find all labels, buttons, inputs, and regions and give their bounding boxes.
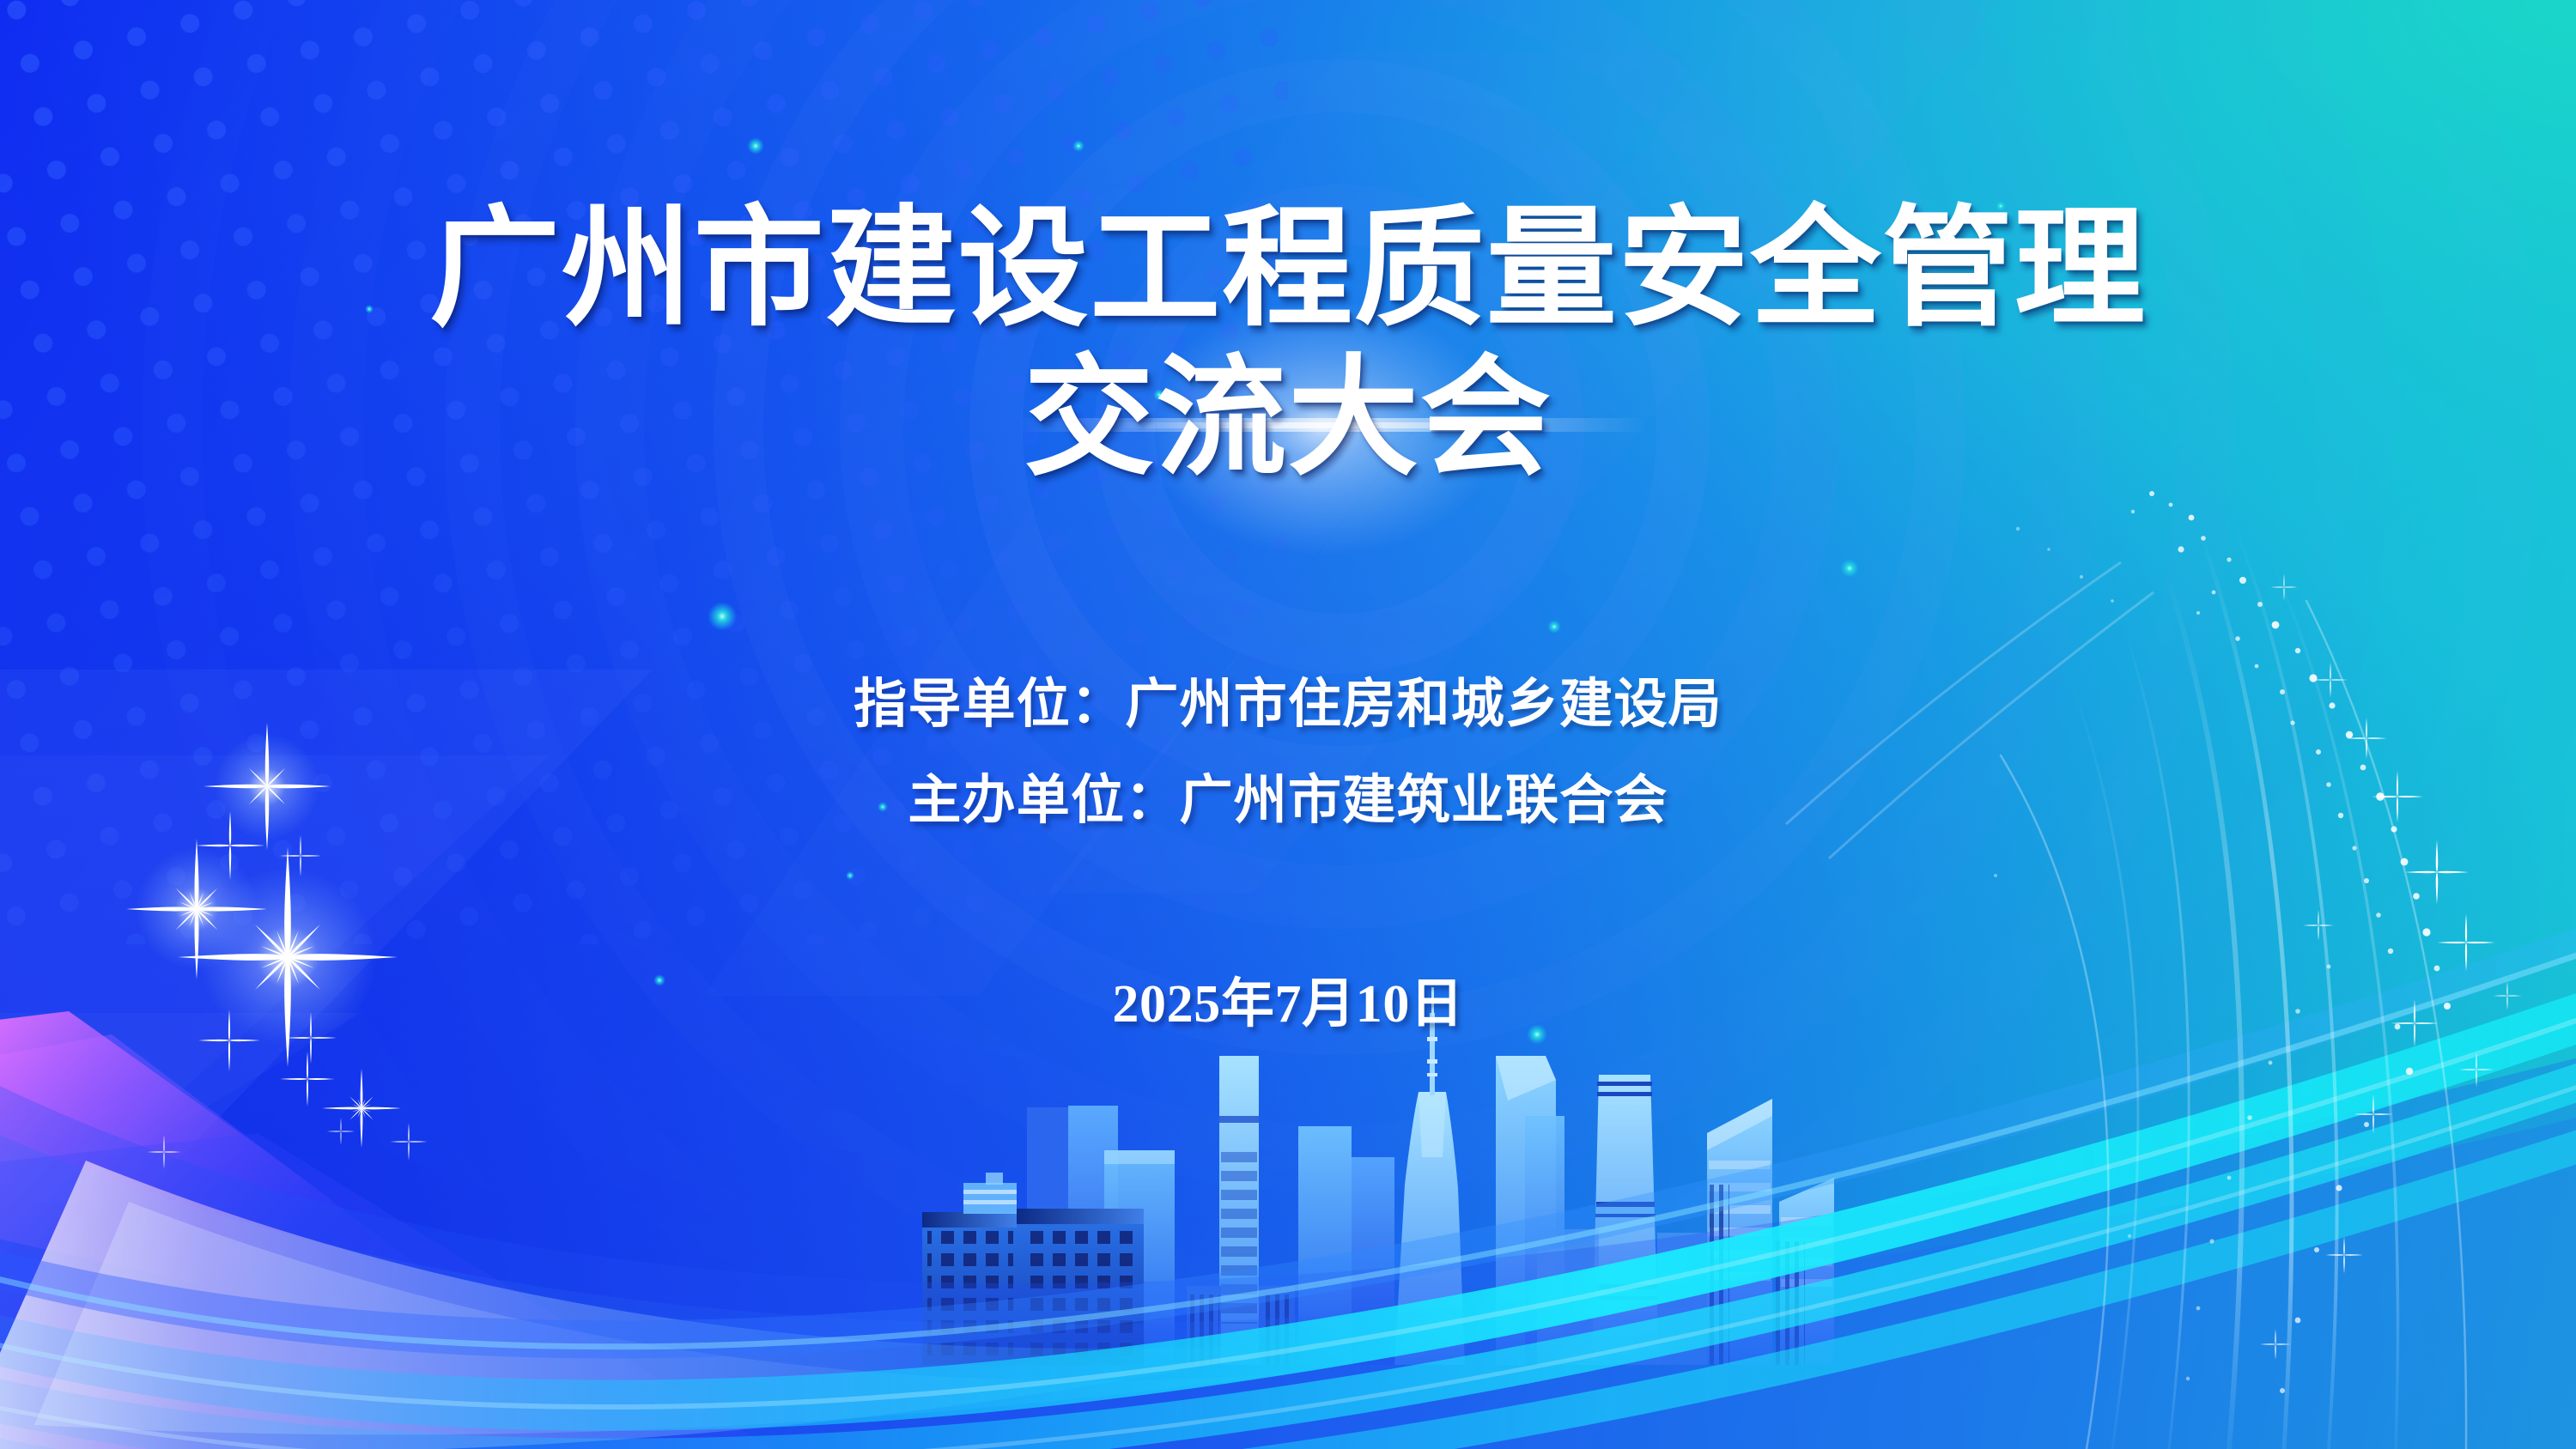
title-line-primary: 广州市建设工程质量安全管理 <box>0 199 2576 340</box>
guiding-unit-line: 指导单位：广州市住房和城乡建设局 <box>0 678 2576 731</box>
banner-title: 广州市建设工程质量安全管理 交流大会 <box>0 199 2576 489</box>
conference-banner: 广州市建设工程质量安全管理 交流大会 指导单位：广州市住房和城乡建设局 主办单位… <box>0 0 2576 1449</box>
host-unit-line: 主办单位：广州市建筑业联合会 <box>0 774 2576 828</box>
organizer-block: 指导单位：广州市住房和城乡建设局 主办单位：广州市建筑业联合会 <box>0 678 2576 828</box>
title-line-secondary: 交流大会 <box>0 349 2576 489</box>
event-date-block: 2025年7月10日 <box>0 960 2576 1037</box>
event-date: 2025年7月10日 <box>0 960 2576 1037</box>
